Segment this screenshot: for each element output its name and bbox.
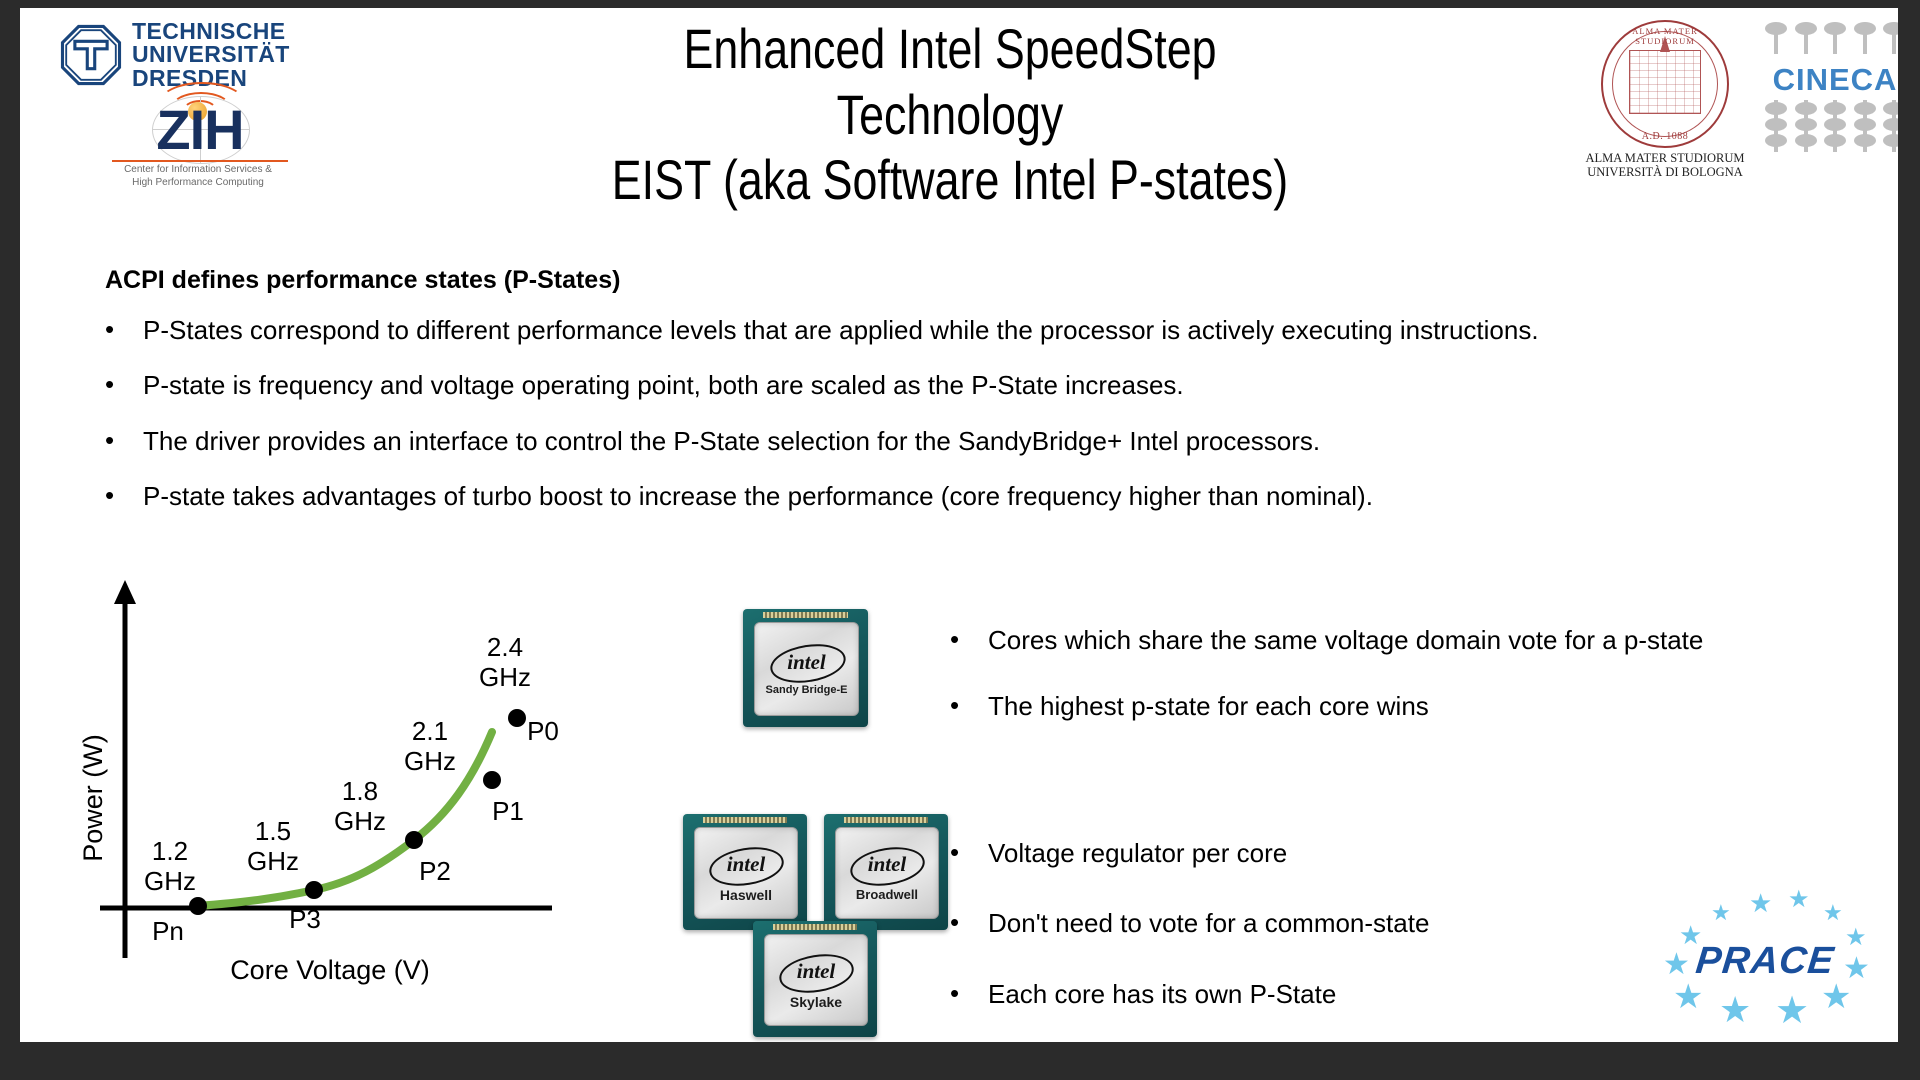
freq-label-p3-value: 1.5 [255,816,291,846]
abacus-bottom-row-3 [1765,134,1898,147]
freq-label-p2-value: 1.8 [342,776,378,806]
bullet-text: The highest p-state for each core wins [988,689,1429,723]
bologna-caption-line1: ALMA MATER STUDIORUM [1575,151,1755,165]
bullet-marker-icon: • [950,836,988,869]
bullet-text: Each core has its own P-State [988,977,1336,1011]
bologna-caption-line2: UNIVERSITÀ DI BOLOGNA [1575,165,1755,179]
bullet-marker-icon: • [950,623,988,656]
star-icon: ★ [1821,980,1851,1014]
main-bullet-list: • P-States correspond to different perfo… [105,313,1805,534]
star-icon: ★ [1788,888,1810,912]
y-axis-label: Power (W) [80,734,108,862]
data-point-p0 [508,709,526,727]
zih-subtitle-line1: Center for Information Services & [78,164,318,177]
slide-canvas: TECHNISCHE UNIVERSITÄT DRESDEN ZIH Cente… [20,8,1898,1042]
power-vs-voltage-chart: 1.2 GHz 1.5 GHz 1.8 GHz 2.1 GHz 2.4 GHz … [80,568,620,988]
bullet-marker-icon: • [950,977,988,1010]
freq-label-p3-unit: GHz [247,846,299,876]
cpu-model-label: Sandy Bridge-E [755,684,858,696]
bullet-text: The driver provides an interface to cont… [143,424,1320,458]
bullet-text: P-state is frequency and voltage operati… [143,368,1184,402]
intel-logo-text: intel [836,852,938,877]
freq-label-p2-unit: GHz [334,806,386,836]
bullet-text: P-state takes advantages of turbo boost … [143,479,1373,513]
state-label-p1: P1 [492,796,524,826]
cpu-sandy-bridge-e: intel Sandy Bridge-E [743,609,868,727]
lead-statement: ACPI defines performance states (P-State… [105,266,620,295]
bologna-seal-top-text: ALMA MATER STUDIORUM [1603,26,1727,46]
abacus-bottom-row-1 [1765,102,1898,115]
bullet-marker-icon: • [105,313,143,346]
prace-wordmark: PRACE [1643,940,1888,983]
cpu-skylake: intel Skylake [753,921,877,1037]
slide-title: Enhanced Intel SpeedStep Technology EIST… [510,16,1390,213]
tu-dresden-logo: TECHNISCHE UNIVERSITÄT DRESDEN ZIH Cente… [60,20,320,210]
zih-logo: ZIH Center for Information Services & Hi… [60,94,320,186]
title-line-2: Technology [510,82,1390,148]
bullet-text: Don't need to vote for a common-state [988,906,1429,940]
bullet-marker-icon: • [105,479,143,512]
star-icon: ★ [1719,992,1751,1028]
state-label-pn: Pn [152,916,184,946]
star-icon: ★ [1775,992,1809,1030]
freq-label-p1-value: 2.1 [412,716,448,746]
prace-logo: ★ ★ ★ ★ ★ ★ ★ ★ ★ ★ ★ ★ PRACE [1645,888,1885,1033]
cpu-broadwell: intel Broadwell [824,814,948,930]
bullet-marker-icon: • [950,689,988,722]
tu-dresden-mark-icon [60,24,122,86]
bullet-marker-icon: • [105,368,143,401]
university-of-bologna-logo: ALMA MATER STUDIORUM A.D. 1088 ALMA MATE… [1575,20,1755,180]
bullet-text: Voltage regulator per core [988,836,1287,870]
state-label-p2: P2 [419,856,451,886]
cineca-wordmark: CINECA [1765,62,1898,98]
y-axis-arrowhead [114,580,136,604]
bologna-seal-bottom-text: A.D. 1088 [1603,131,1727,142]
state-label-p3: P3 [289,904,321,934]
star-icon: ★ [1673,980,1703,1014]
cpu-haswell: intel Haswell [683,814,807,930]
bologna-seal-icon: ALMA MATER STUDIORUM A.D. 1088 [1601,20,1729,148]
intel-logo-text: intel [765,959,867,984]
tud-line2: UNIVERSITÄT [132,43,290,66]
abacus-top-rods [1765,28,1898,54]
star-icon: ★ [1823,902,1843,924]
cineca-logo: CINECA [1765,22,1898,152]
list-item: • P-state takes advantages of turbo boos… [105,479,1805,513]
intel-logo-text: intel [755,650,858,675]
data-point-pn [189,897,207,915]
list-item: • The driver provides an interface to co… [105,424,1805,458]
x-axis-label: Core Voltage (V) [230,955,430,985]
star-icon: ★ [1711,902,1731,924]
freq-label-pn-unit: GHz [144,866,196,896]
list-item: • The highest p-state for each core wins [950,689,1870,723]
zih-rule [112,160,288,162]
title-line-3: EIST (aka Software Intel P-states) [510,147,1390,213]
zih-subtitle-line2: High Performance Computing [78,177,318,190]
freq-label-p0-value: 2.4 [487,632,523,662]
cpu-model-label: Broadwell [836,887,938,902]
freq-label-p0-unit: GHz [479,662,531,692]
bullet-text: Cores which share the same voltage domai… [988,623,1703,657]
abacus-bottom-row-2 [1765,118,1898,131]
intel-logo-text: intel [695,852,797,877]
bullet-marker-icon: • [105,424,143,457]
bullet-text: P-States correspond to different perform… [143,313,1539,347]
tud-line1: TECHNISCHE [132,20,290,43]
cpu-model-label: Skylake [765,994,867,1010]
bologna-caption: ALMA MATER STUDIORUM UNIVERSITÀ DI BOLOG… [1575,151,1755,180]
bullet-marker-icon: • [950,906,988,939]
freq-label-pn-value: 1.2 [152,836,188,866]
zih-wordmark: ZIH [110,102,290,158]
list-item: • P-States correspond to different perfo… [105,313,1805,347]
zih-subtitle: Center for Information Services & High P… [78,164,318,189]
list-item: • Cores which share the same voltage dom… [950,623,1870,657]
star-icon: ★ [1749,890,1772,916]
title-line-1: Enhanced Intel SpeedStep [510,16,1390,82]
freq-label-p1-unit: GHz [404,746,456,776]
data-point-p3 [305,881,323,899]
list-item: • Voltage regulator per core [950,836,1780,870]
cpu-model-label: Haswell [695,887,797,903]
data-point-p2 [405,831,423,849]
state-label-p0: P0 [527,716,559,746]
right-bullet-group-a: • Cores which share the same voltage dom… [950,623,1870,745]
list-item: • P-state is frequency and voltage opera… [105,368,1805,402]
data-point-p1 [483,771,501,789]
